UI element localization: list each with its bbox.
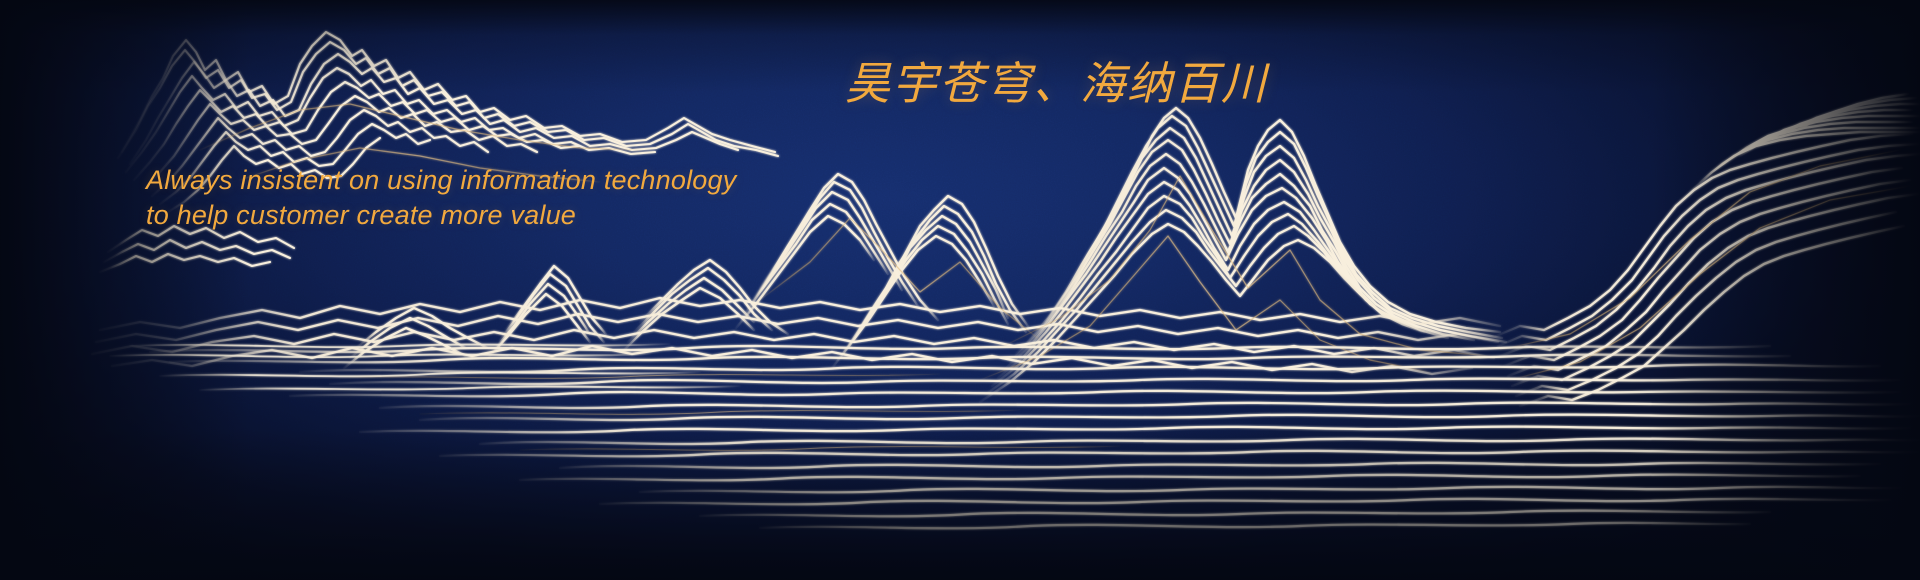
tagline-line-2: to help customer create more value	[146, 198, 736, 233]
hero-banner: 昊宇苍穹、海纳百川 Always insistent on using info…	[0, 0, 1920, 580]
headline-chinese: 昊宇苍穹、海纳百川	[845, 58, 1268, 110]
tagline-line-1: Always insistent on using information te…	[146, 163, 736, 198]
tagline-english: Always insistent on using information te…	[146, 163, 736, 233]
